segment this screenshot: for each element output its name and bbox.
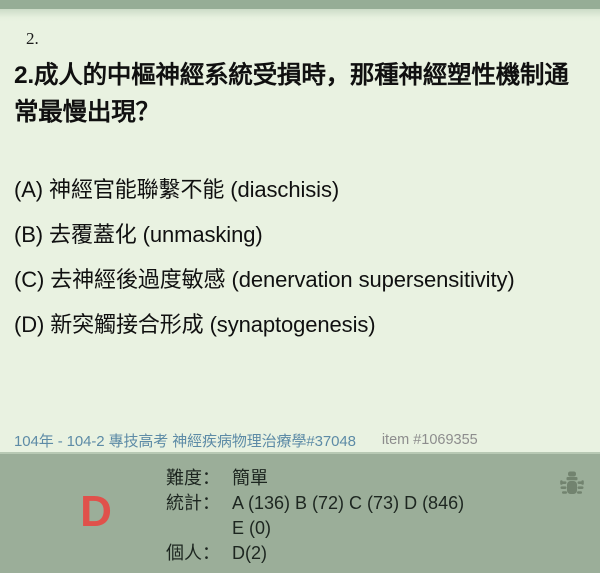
option-b[interactable]: (B) 去覆蓋化 (unmasking) [14, 212, 590, 257]
question-screen: 2. 2.成人的中樞神經系統受損時，那種神經塑性機制通常最慢出現？ (A) 神經… [0, 0, 600, 573]
option-list: (A) 神經官能聯繫不能 (diaschisis) (B) 去覆蓋化 (unma… [14, 167, 590, 347]
panel-divider [0, 452, 600, 454]
source-meta-line: 104年 - 104-2 專技高考 神經疾病物理治療學#37048 item #… [0, 428, 600, 452]
question-stem: 2.成人的中樞神經系統受損時，那種神經塑性機制通常最慢出現？ [14, 57, 590, 131]
statistics-value-line1: A (136) B (72) C (73) D (846) [232, 491, 464, 516]
question-number: 2. [26, 28, 590, 50]
top-gradient-fade [0, 9, 600, 22]
difficulty-value: 簡單 [232, 466, 268, 491]
question-content: 2. 2.成人的中樞神經系統受損時，那種神經塑性機制通常最慢出現？ (A) 神經… [0, 22, 600, 452]
option-c[interactable]: (C) 去神經後過度敏感 (denervation supersensitivi… [14, 257, 590, 302]
difficulty-label: 難度： [166, 466, 232, 491]
statistics-row: 統計： A (136) B (72) C (73) D (846) [166, 491, 566, 516]
status-bar-strip [0, 0, 600, 9]
statistics-label: 統計： [166, 491, 232, 516]
exam-source-link[interactable]: 104年 - 104-2 專技高考 神經疾病物理治療學#37048 [14, 430, 356, 451]
difficulty-row: 難度： 簡單 [166, 466, 566, 491]
bug-icon[interactable] [556, 468, 588, 500]
personal-row: 個人： D(2) [166, 541, 566, 566]
personal-value: D(2) [232, 541, 267, 566]
option-d[interactable]: (D) 新突觸接合形成 (synaptogenesis) [14, 302, 590, 347]
statistics-row-continued: E (0) [166, 516, 566, 541]
correct-answer-letter: D [64, 488, 128, 536]
item-id-label: item #1069355 [382, 432, 478, 448]
option-a[interactable]: (A) 神經官能聯繫不能 (diaschisis) [14, 167, 590, 212]
personal-label: 個人： [166, 541, 232, 566]
stats-table: 難度： 簡單 統計： A (136) B (72) C (73) D (846)… [166, 466, 566, 566]
statistics-value-line2: E (0) [232, 516, 271, 541]
